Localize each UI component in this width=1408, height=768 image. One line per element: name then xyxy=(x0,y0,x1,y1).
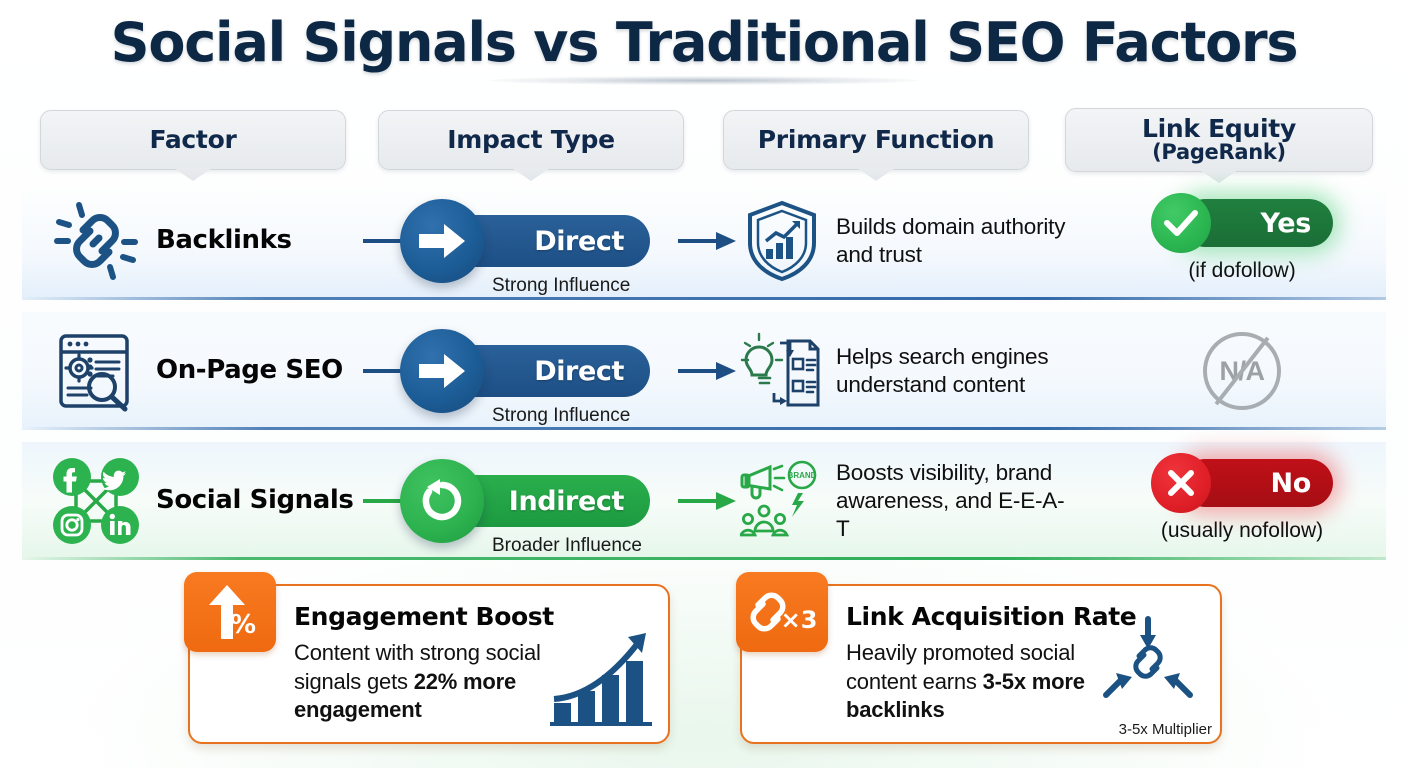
column-header-factor-label: Factor xyxy=(150,127,237,153)
header-notch-icon xyxy=(857,168,895,181)
row-impact-cell: Indirect Broader Influence xyxy=(400,442,700,560)
impact-sublabel: Strong Influence xyxy=(492,405,630,427)
row-divider xyxy=(22,297,1386,300)
svg-text:BRAND: BRAND xyxy=(788,471,817,480)
impact-pill-label: Direct xyxy=(534,356,624,387)
connector-arrow-icon xyxy=(678,228,736,254)
column-header-link-equity-label: Link Equity (PageRank) xyxy=(1142,116,1296,164)
table-row: Social Signals Indirect Broader Influenc… xyxy=(22,442,1386,560)
column-header-impact-type: Impact Type xyxy=(378,110,684,170)
impact-pill-direct: Direct xyxy=(442,345,650,397)
function-text: Boosts visibility, brand awareness, and … xyxy=(836,459,1070,543)
column-header-impact-type-label: Impact Type xyxy=(447,127,615,153)
equity-sublabel: (usually nofollow) xyxy=(1161,519,1323,543)
title-block: Social Signals vs Traditional SEO Factor… xyxy=(0,14,1408,71)
row-equity-cell: Yes (if dofollow) xyxy=(1092,182,1392,300)
factor-label: Social Signals xyxy=(156,486,354,516)
header-notch-icon xyxy=(512,168,550,181)
row-function-cell: Helps search engines understand content xyxy=(740,312,1070,430)
row-divider xyxy=(22,557,1386,560)
stat-card-link-acquisition-rate: ×3 Link Acquisition Rate Heavily promote… xyxy=(740,584,1222,744)
row-factor-cell: Backlinks xyxy=(50,182,380,300)
viz-caption: 3-5x Multiplier xyxy=(1119,721,1212,738)
impact-pill-indirect: Indirect xyxy=(442,475,650,527)
connector-arrow-icon xyxy=(678,358,736,384)
table-row: Backlinks Direct Strong Influence xyxy=(22,182,1386,300)
title-underline xyxy=(489,76,919,85)
megaphone-audience-icon: BRAND xyxy=(740,459,824,543)
page-title: Social Signals vs Traditional SEO Factor… xyxy=(0,14,1408,71)
stat-card-engagement-boost: % Engagement Boost Content with strong s… xyxy=(188,584,670,744)
status-badge-yes: Yes xyxy=(1181,199,1333,247)
row-impact-cell: Direct Strong Influence xyxy=(400,312,700,430)
row-impact-cell: Direct Strong Influence xyxy=(400,182,700,300)
factor-label: Backlinks xyxy=(156,226,292,256)
row-factor-cell: Social Signals xyxy=(50,442,380,560)
header-notch-icon xyxy=(174,168,212,181)
column-header-primary-function-label: Primary Function xyxy=(758,127,994,153)
cross-icon xyxy=(1151,453,1211,513)
lightbulb-document-icon xyxy=(740,329,824,413)
no-entry-icon: N/A xyxy=(1203,332,1281,410)
column-header-primary-function: Primary Function xyxy=(723,110,1029,170)
link-equity-subtitle: (PageRank) xyxy=(1142,142,1296,164)
impact-sublabel: Strong Influence xyxy=(492,275,630,297)
row-function-cell: Builds domain authority and trust xyxy=(740,182,1070,300)
browser-gear-magnifier-icon xyxy=(50,325,142,417)
right-arrow-icon xyxy=(400,329,484,413)
check-icon xyxy=(1151,193,1211,253)
row-factor-cell: On-Page SEO xyxy=(50,312,380,430)
row-equity-cell: No (usually nofollow) xyxy=(1092,442,1392,560)
growth-bar-chart-icon xyxy=(548,627,658,732)
row-divider xyxy=(22,427,1386,430)
status-badge-label: No xyxy=(1270,468,1311,499)
impact-pill-label: Direct xyxy=(534,226,624,257)
impact-sublabel: Broader Influence xyxy=(492,535,642,557)
column-header-factor: Factor xyxy=(40,110,346,170)
connector-arrow-icon xyxy=(678,488,736,514)
status-badge-no: No xyxy=(1181,459,1333,507)
right-arrow-icon xyxy=(400,199,484,283)
social-network-icons xyxy=(50,455,142,547)
factor-label: On-Page SEO xyxy=(156,356,343,386)
table-row: On-Page SEO Direct Strong Influence xyxy=(22,312,1386,430)
broken-chain-link-icon xyxy=(50,195,142,287)
impact-pill-direct: Direct xyxy=(442,215,650,267)
function-text: Helps search engines understand content xyxy=(836,343,1070,399)
column-header-link-equity: Link Equity (PageRank) xyxy=(1065,108,1373,172)
row-function-cell: BRAND xyxy=(740,442,1070,560)
row-equity-cell: N/A xyxy=(1092,312,1392,430)
infographic-canvas: Social Signals vs Traditional SEO Factor… xyxy=(0,0,1408,768)
link-equity-title: Link Equity xyxy=(1142,114,1296,143)
equity-sublabel: (if dofollow) xyxy=(1188,259,1295,283)
impact-pill-label: Indirect xyxy=(509,486,624,517)
refresh-loop-icon xyxy=(400,459,484,543)
function-text: Builds domain authority and trust xyxy=(836,213,1070,269)
inbound-link-arrows-icon xyxy=(1092,615,1202,716)
status-badge-label: Yes xyxy=(1260,208,1311,239)
shield-chart-icon xyxy=(740,199,824,283)
